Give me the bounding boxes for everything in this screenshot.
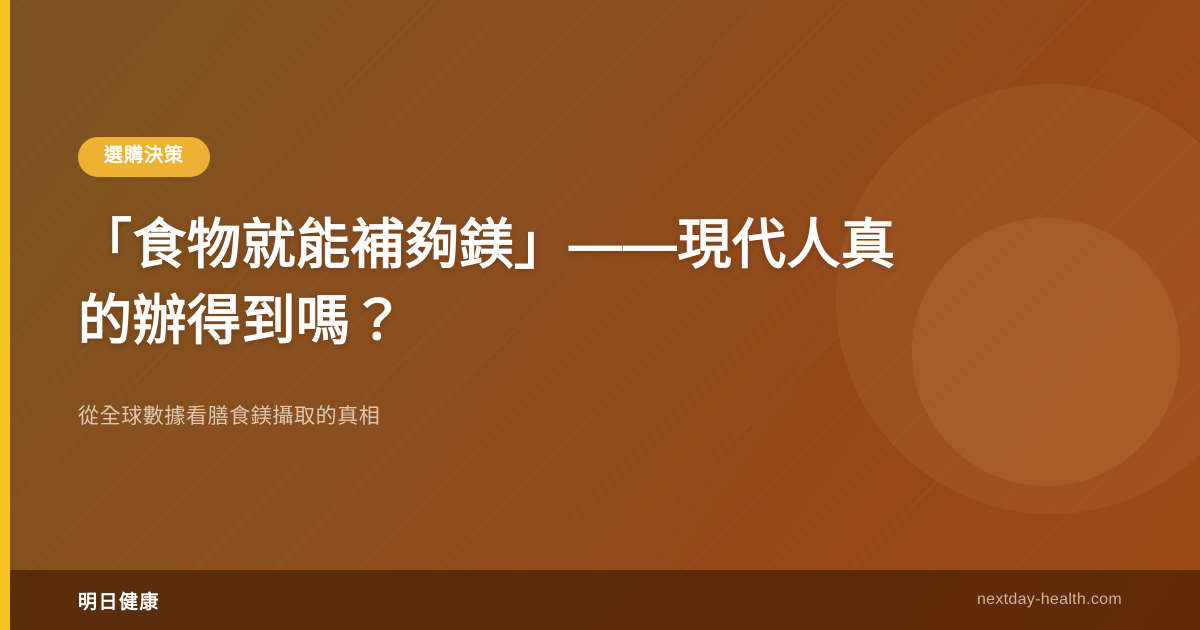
- left-accent-bar: [0, 0, 10, 630]
- card-footer: 明日健康 nextday-health.com: [0, 570, 1200, 630]
- page-subtitle: 從全球數據看膳食鎂攝取的真相: [78, 401, 958, 433]
- og-share-card: 選購決策 「食物就能補夠鎂」——現代人真的辦得到嗎？ 從全球數據看膳食鎂攝取的真…: [0, 0, 1200, 630]
- site-url[interactable]: nextday-health.com: [977, 591, 1122, 609]
- card-content: 選購決策 「食物就能補夠鎂」——現代人真的辦得到嗎？ 從全球數據看膳食鎂攝取的真…: [78, 0, 958, 570]
- brand-name: 明日健康: [78, 587, 160, 614]
- page-title: 「食物就能補夠鎂」——現代人真的辦得到嗎？: [78, 207, 908, 359]
- category-badge[interactable]: 選購決策: [78, 137, 210, 177]
